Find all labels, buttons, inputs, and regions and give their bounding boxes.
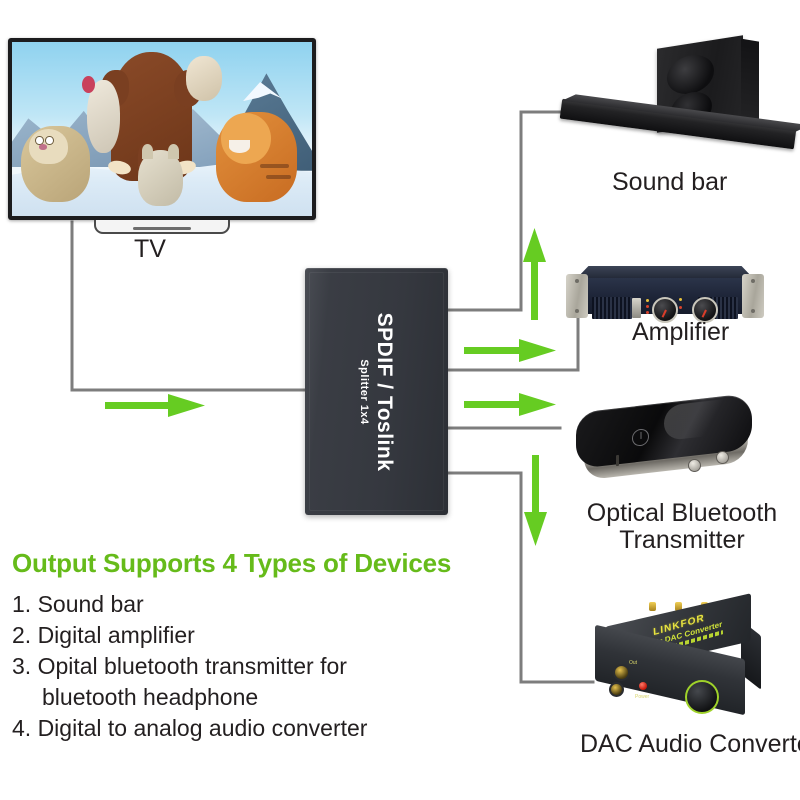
bt-mode-button [688,459,701,472]
subwoofer-side [741,39,759,126]
possum-character-icon [87,80,120,153]
wire-out2-amplifier [448,318,578,370]
amplifier-led [646,311,649,314]
amplifier-led [646,305,649,308]
squirrel-character-icon [138,150,183,206]
dac-label: DAC Audio Converter [580,730,800,759]
device-list-item: 3. Opital bluetooth transmitter for [12,651,482,682]
sloth-eye [45,136,53,145]
dac-headphone-jack [609,682,624,697]
bluetooth-label-line2: Transmitter [619,526,744,554]
amplifier-rack-ear [566,274,588,318]
tiger-stripe [266,175,290,179]
bt-pair-button [716,451,729,464]
tiger-mouth [229,140,250,153]
bluetooth-label: Optical Bluetooth Transmitter [572,500,792,553]
amplifier-front-panel [566,278,764,314]
dac-power-label: Power [635,694,649,700]
sloth-character-icon [21,126,90,203]
device-list-item: 2. Digital amplifier [12,620,482,651]
bluetooth-transmitter-icon [576,403,752,481]
splitter-subtitle: Splitter 1x4 [358,312,370,471]
amplifier-led [679,306,682,309]
tiger-character-icon [216,112,297,202]
splitter-title: SPDIF / Toslink [372,312,396,471]
spdif-splitter-device: SPDIF / Toslink Splitter 1x4 [305,268,448,515]
wire-out1-soundbar [448,112,580,310]
amplifier-led [646,299,649,302]
amplifier-icon [566,266,764,318]
tiger-stripe [260,164,289,168]
dac-output-jack [613,664,630,681]
dac-power-led [639,682,647,690]
amplifier-vent [592,297,632,319]
feature-text-block: Output Supports 4 Types of Devices 1. So… [12,548,482,744]
subwoofer-driver [667,52,713,98]
diagram-canvas: TV Sound bar Amplifier [0,0,800,800]
tv-bezel [8,38,316,220]
baby-character-icon [186,56,222,101]
sloth-face [29,129,68,164]
dac-out-label: Out [629,660,637,666]
arrow-dac-down [524,455,547,546]
arrow-amplifier-up [523,228,546,320]
bluetooth-label-line1: Optical Bluetooth [587,499,777,527]
device-list-item: 4. Digital to analog audio converter [12,713,482,744]
arrow-out-3-right [464,393,556,416]
feature-heading: Output Supports 4 Types of Devices [12,548,482,579]
amplifier-power-switch [632,298,641,318]
tv-stand [94,220,230,234]
arrow-input-right [105,394,205,417]
soundbar-label: Sound bar [612,168,727,197]
bt-slot [616,455,619,466]
amplifier-label: Amplifier [632,318,729,347]
device-list-item-continued: bluetooth headphone [12,682,482,713]
amplifier-led [679,298,682,301]
possum-helmet [82,76,95,94]
dac-volume-knob [685,680,719,714]
tv-device [8,38,316,220]
arrow-out-2-right [464,339,556,362]
squirrel-ear [142,144,154,158]
tv-label: TV [134,235,166,264]
tiger-face [221,113,271,164]
bt-gloss-highlight [664,398,741,442]
dac-rca-post [649,602,656,611]
amplifier-rack-ear [742,274,764,318]
tv-screen [12,42,312,216]
squirrel-ear [168,144,180,158]
splitter-text: SPDIF / Toslink Splitter 1x4 [358,312,396,471]
sloth-nose [39,144,47,150]
device-list-item: 1. Sound bar [12,589,482,620]
wire-tv-to-splitter [72,222,305,390]
dac-converter-icon: LINKFOR 192KHz DAC Converter Out Power [591,606,763,710]
